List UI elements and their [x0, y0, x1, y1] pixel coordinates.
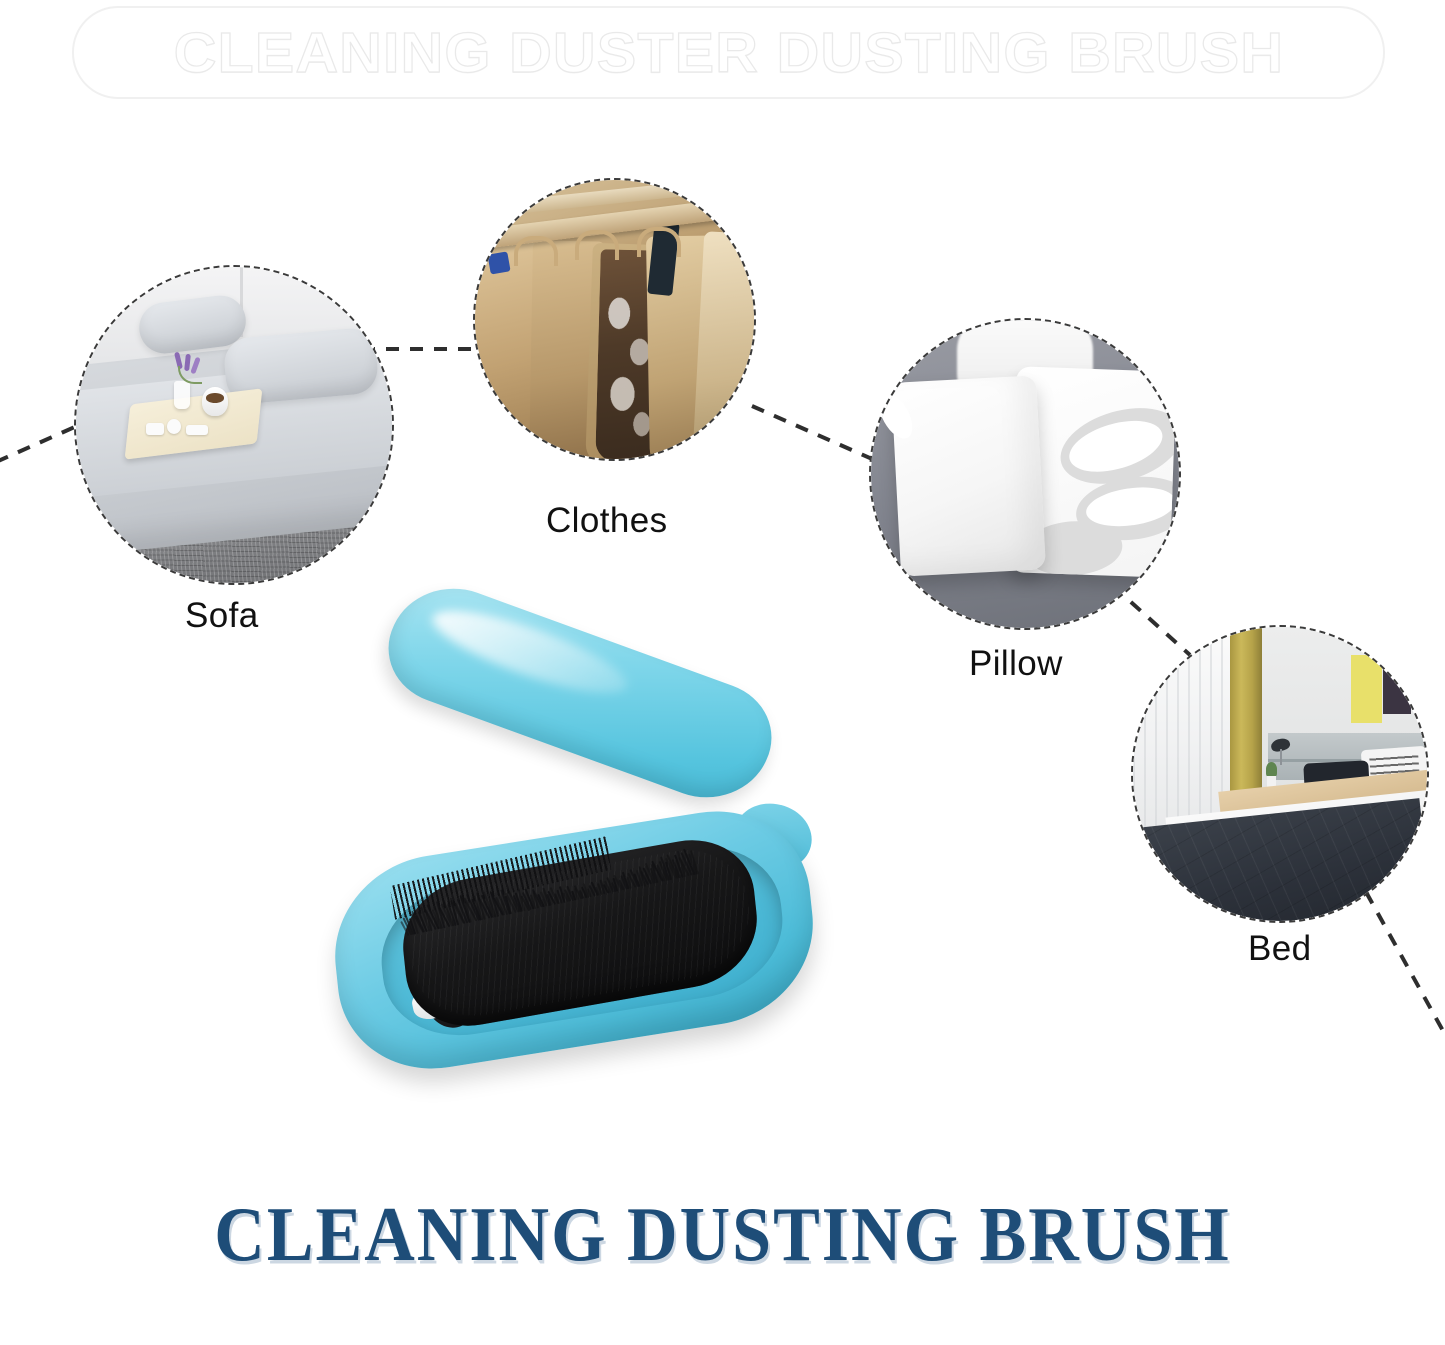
tray-item	[146, 423, 164, 435]
hanger-icon	[514, 236, 558, 266]
label-sofa: Sofa	[185, 596, 259, 636]
mustard-curtain	[1230, 627, 1262, 803]
feature-circle-bed[interactable]	[1131, 625, 1429, 923]
case-lid	[369, 572, 791, 815]
tray-item	[167, 419, 181, 434]
wall-artwork	[1351, 651, 1422, 725]
sofa-teacup	[202, 387, 227, 415]
footer-title: CLEANING DUSTING BRUSH	[0, 1192, 1445, 1280]
desk-lamp-icon	[1268, 739, 1294, 765]
sofa-scene	[76, 267, 392, 583]
label-bed: Bed	[1248, 929, 1311, 969]
product-image-dusting-brush[interactable]	[326, 628, 838, 1120]
top-banner: CLEANING DUSTER DUSTING BRUSH	[72, 6, 1385, 99]
pillow-white	[891, 375, 1046, 576]
plant-foliage	[1266, 762, 1277, 777]
hanger-icon	[637, 227, 681, 257]
lavender-leaf	[178, 366, 202, 384]
connector-clothes-to-pillow	[752, 406, 888, 466]
feature-circle-pillow[interactable]	[869, 318, 1181, 630]
bed-scene	[1133, 627, 1427, 921]
feature-circle-clothes[interactable]	[473, 178, 756, 461]
banner-title: CLEANING DUSTER DUSTING BRUSH	[173, 20, 1283, 86]
clothes-scene	[475, 180, 754, 459]
artwork-panel-yellow	[1351, 655, 1382, 723]
sofa-tray-items	[146, 419, 241, 454]
tray-item	[186, 425, 208, 435]
artwork-panel-dark	[1383, 651, 1411, 714]
infographic-canvas: CLEANING DUSTER DUSTING BRUSH	[0, 0, 1445, 1345]
lavender-sprig-icon	[174, 352, 202, 390]
lamp-stem	[1280, 749, 1282, 765]
blue-accent	[487, 251, 510, 274]
pillow-scene	[871, 320, 1179, 628]
hanger-icon	[575, 230, 619, 260]
label-clothes: Clothes	[546, 501, 667, 541]
label-pillow: Pillow	[969, 644, 1063, 684]
feature-circle-sofa[interactable]	[74, 265, 394, 585]
